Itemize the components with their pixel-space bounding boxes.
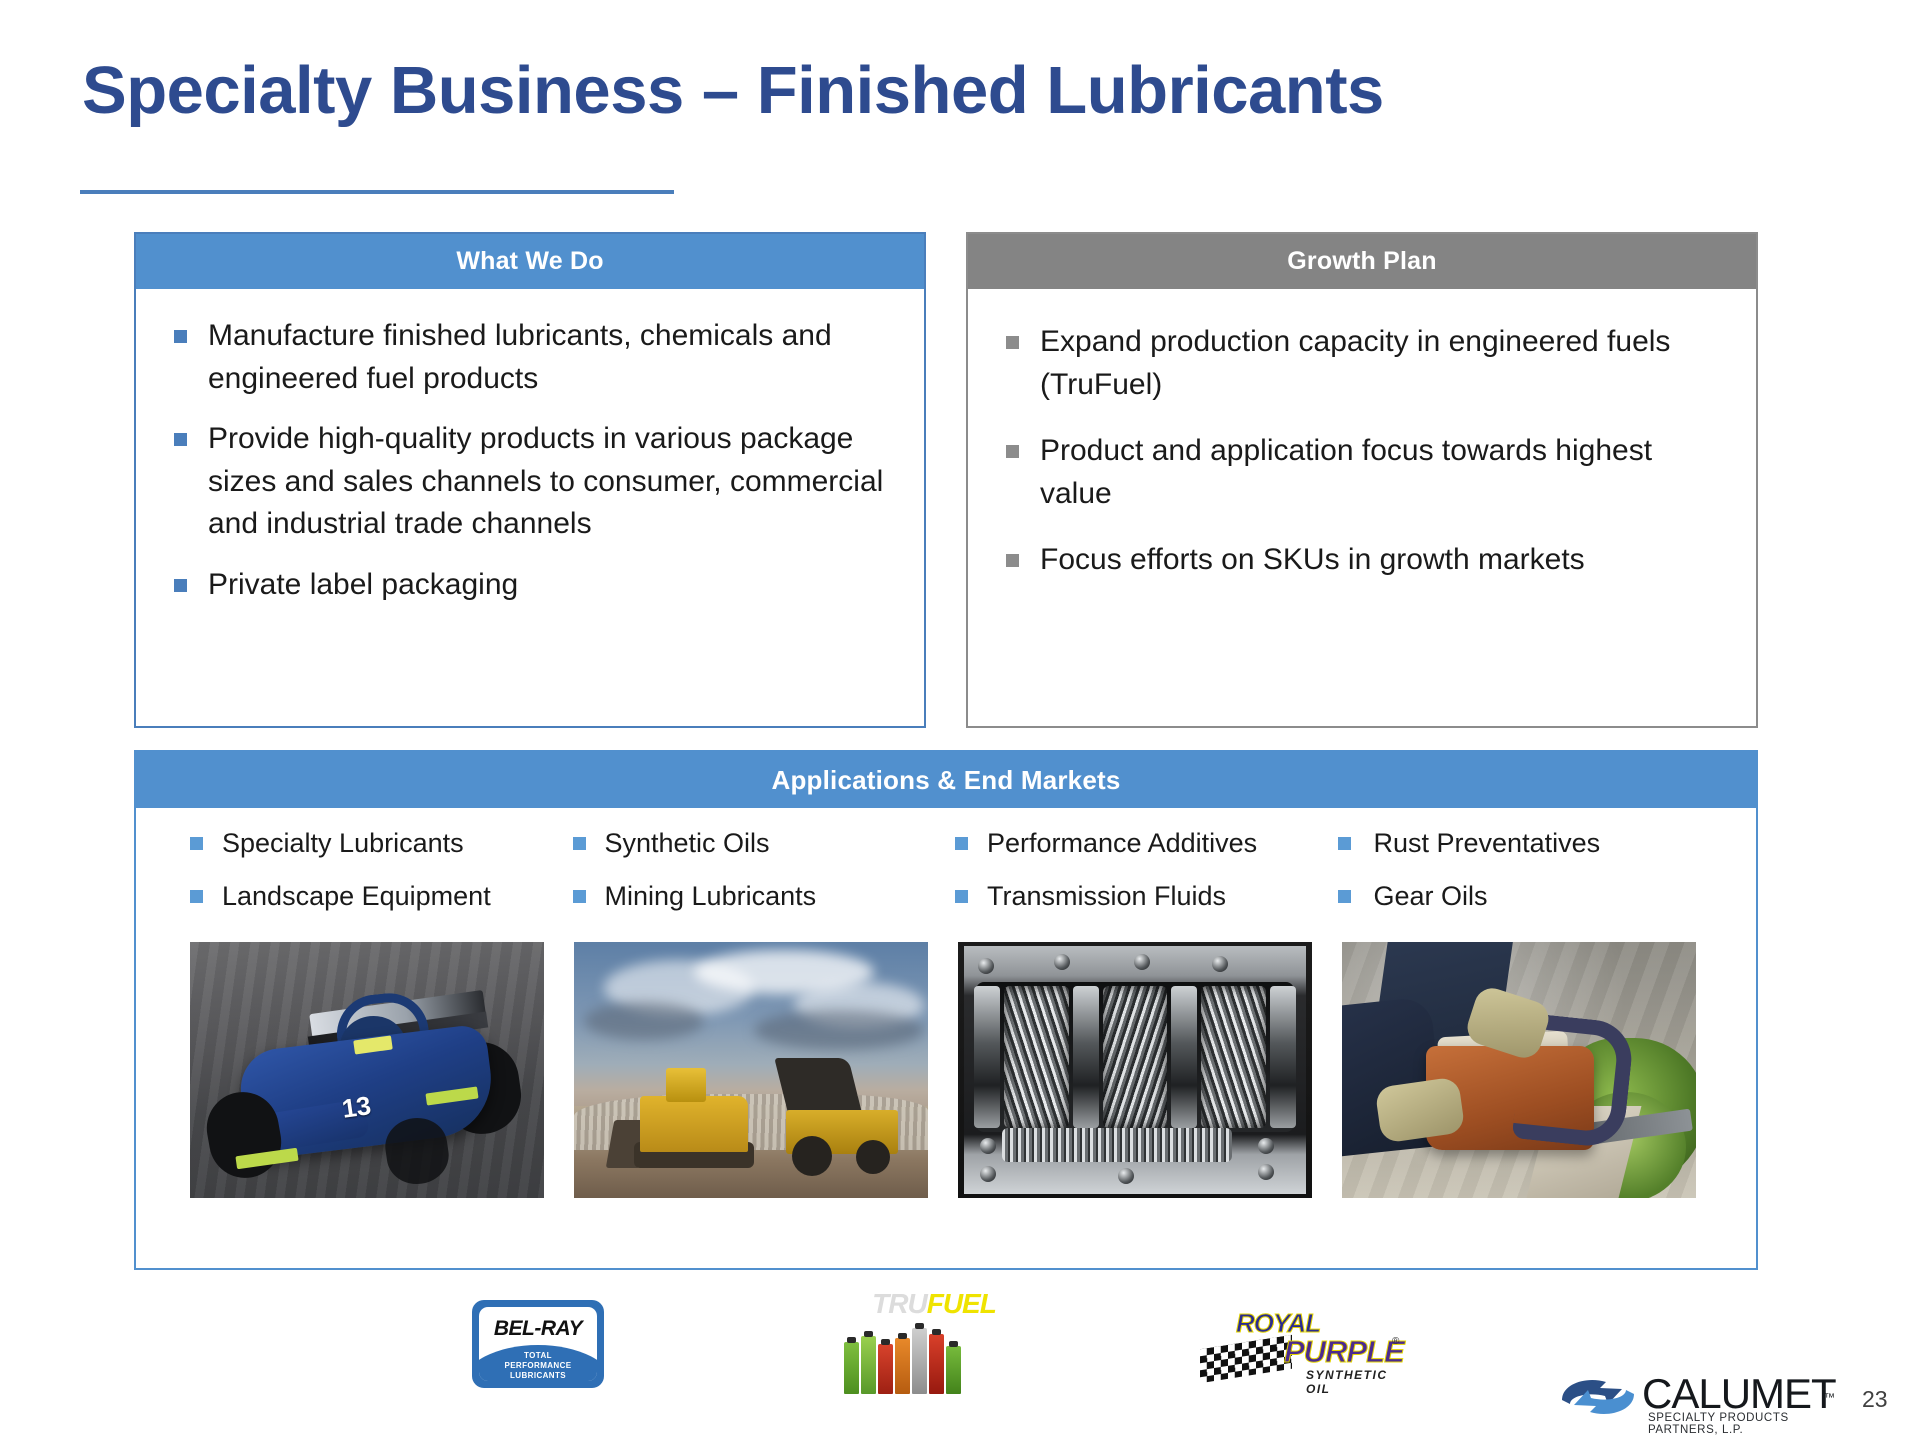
bel-ray-logo: BEL-RAY TOTAL PERFORMANCE LUBRICANTS [472,1300,604,1388]
helical-gear [1004,986,1069,1128]
list-item: Provide high-quality products in various… [166,418,894,546]
housing-bolt [1258,1164,1274,1180]
gear-shaft-assembly [974,986,1296,1128]
housing-bolt [1258,1138,1274,1154]
list-item: Specialty Lubricants [186,830,569,857]
checkered-flag-icon [1200,1335,1292,1384]
applications-column-1: Specialty Lubricants Landscape Equipment [186,830,569,936]
trufuel-wordmark: TRUFUEL [836,1288,1032,1320]
list-item: Focus efforts on SKUs in growth markets [998,539,1726,582]
trufuel-word-a: TRU [872,1288,927,1319]
panel-applications-end-markets: Applications & End Markets Specialty Lub… [134,750,1758,1270]
product-can [895,1338,910,1394]
list-item: Landscape Equipment [186,883,569,910]
cloud [584,1002,704,1040]
applications-columns: Specialty Lubricants Landscape Equipment… [136,808,1756,936]
bel-ray-tagline-line1: TOTAL [479,1351,597,1361]
list-item: Gear Oils [1334,883,1717,910]
what-we-do-bullet-list: Manufacture finished lubricants, chemica… [166,315,894,607]
calumet-swoosh-icon [1556,1374,1640,1420]
bel-ray-wordmark: BEL-RAY [479,1317,597,1341]
royal-purple-tagline: SYNTHETIC OIL [1306,1368,1406,1396]
list-item: Transmission Fluids [951,883,1334,910]
bearing-hub [1270,986,1296,1128]
cloud [754,1010,924,1050]
applications-column-3: Performance Additives Transmission Fluid… [951,830,1334,936]
helical-gear [1201,986,1266,1128]
car-number: 13 [340,1090,373,1125]
growth-plan-body: Expand production capacity in engineered… [968,289,1756,616]
page-number: 23 [1862,1386,1888,1413]
applications-header: Applications & End Markets [136,752,1756,808]
list-item: Expand production capacity in engineered… [998,321,1726,406]
trufuel-word-b: FUEL [927,1288,996,1319]
housing-bolt [980,1166,996,1182]
bel-ray-tagline-line3: LUBRICANTS [479,1371,597,1381]
bel-ray-logo-inner: BEL-RAY TOTAL PERFORMANCE LUBRICANTS [479,1307,597,1381]
bearing-hub [1171,986,1197,1128]
growth-plan-bullet-list: Expand production capacity in engineered… [998,321,1726,582]
chainsaw-photo [1342,942,1696,1198]
calumet-trademark: ™ [1824,1392,1835,1404]
product-can [878,1344,893,1394]
applications-column-4: Rust Preventatives Gear Oils [1334,830,1717,936]
panel-what-we-do: What We Do Manufacture finished lubrican… [134,232,926,728]
truck-wheel [856,1140,890,1174]
lower-shaft-gear [1002,1128,1232,1162]
calumet-wordmark: CALUMET [1642,1370,1836,1418]
helical-gear [1103,986,1168,1128]
truck-wheel [792,1136,832,1176]
title-underline [80,190,674,194]
royal-purple-registered-mark: ® [1392,1336,1399,1347]
housing-bolt [978,958,994,974]
calumet-logo: CALUMET ™ SPECIALTY PRODUCTS PARTNERS, L… [1556,1368,1846,1430]
product-can [912,1328,927,1394]
calumet-subtitle: SPECIALTY PRODUCTS PARTNERS, L.P. [1648,1412,1846,1436]
housing-bolt [980,1138,996,1154]
mining-equipment-photo [574,942,928,1198]
product-can [946,1346,961,1394]
applications-column-2: Synthetic Oils Mining Lubricants [569,830,952,936]
housing-bolt [1212,956,1228,972]
list-item: Product and application focus towards hi… [998,430,1726,515]
list-item: Private label packaging [166,564,894,607]
bulldozer [640,1096,748,1152]
list-item: Synthetic Oils [569,830,952,857]
what-we-do-header: What We Do [136,234,924,289]
bel-ray-tagline: TOTAL PERFORMANCE LUBRICANTS [479,1351,597,1380]
royal-purple-logo: ROYAL PURPLE ® SYNTHETIC OIL [1196,1306,1406,1390]
trufuel-product-cans [844,1324,1024,1394]
royal-purple-word-b: PURPLE [1284,1334,1404,1370]
dozer-cab [666,1068,706,1102]
product-can [861,1336,876,1394]
product-can [929,1334,944,1394]
panel-growth-plan: Growth Plan Expand production capacity i… [966,232,1758,728]
growth-plan-header: Growth Plan [968,234,1756,289]
applications-photo-row: 13 [136,936,1756,1198]
slide: Specialty Business – Finished Lubricants… [0,0,1920,1440]
page-title: Specialty Business – Finished Lubricants [82,52,1384,129]
list-item: Manufacture finished lubricants, chemica… [166,315,894,400]
housing-bolt [1054,954,1070,970]
list-item: Mining Lubricants [569,883,952,910]
what-we-do-body: Manufacture finished lubricants, chemica… [136,289,924,635]
transmission-gears-photo [958,942,1312,1198]
housing-bolt [1118,1168,1134,1184]
list-item: Performance Additives [951,830,1334,857]
race-car-photo: 13 [190,942,544,1198]
bearing-hub [1073,986,1099,1128]
trufuel-logo: TRUFUEL [836,1288,1032,1398]
bearing-hub [974,986,1000,1128]
product-can [844,1342,859,1394]
housing-bolt [1134,954,1150,970]
list-item: Rust Preventatives [1334,830,1717,857]
bel-ray-tagline-line2: PERFORMANCE [479,1361,597,1371]
